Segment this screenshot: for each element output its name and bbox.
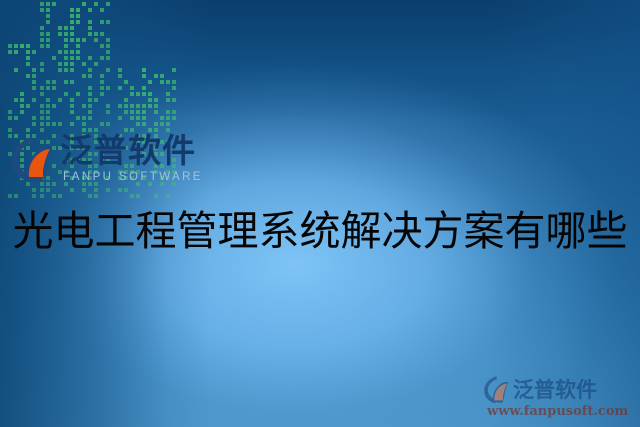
top-shade-overlay: [0, 0, 640, 120]
promo-banner: 泛普软件 FANPU SOFTWARE 光电工程管理系统解决方案有哪些 泛普软件…: [0, 0, 640, 427]
headline-title: 光电工程管理系统解决方案有哪些: [0, 200, 640, 262]
watermark-url: www.fanpusoft.com: [487, 404, 632, 419]
watermark-brand-name: 泛普软件: [513, 378, 597, 402]
brand-name-cn: 泛普软件: [60, 133, 203, 169]
brand-logo-lockup: 泛普软件 FANPU SOFTWARE: [12, 133, 203, 184]
site-watermark: 泛普软件 www.fanpusoft.com: [484, 375, 632, 419]
fanpu-logo-mark-icon: [12, 135, 56, 183]
fanpu-watermark-logo-icon: [484, 375, 511, 404]
brand-text-block: 泛普软件 FANPU SOFTWARE: [60, 133, 203, 184]
brand-name-en: FANPU SOFTWARE: [63, 171, 203, 184]
watermark-logo-row: 泛普软件: [484, 375, 632, 404]
